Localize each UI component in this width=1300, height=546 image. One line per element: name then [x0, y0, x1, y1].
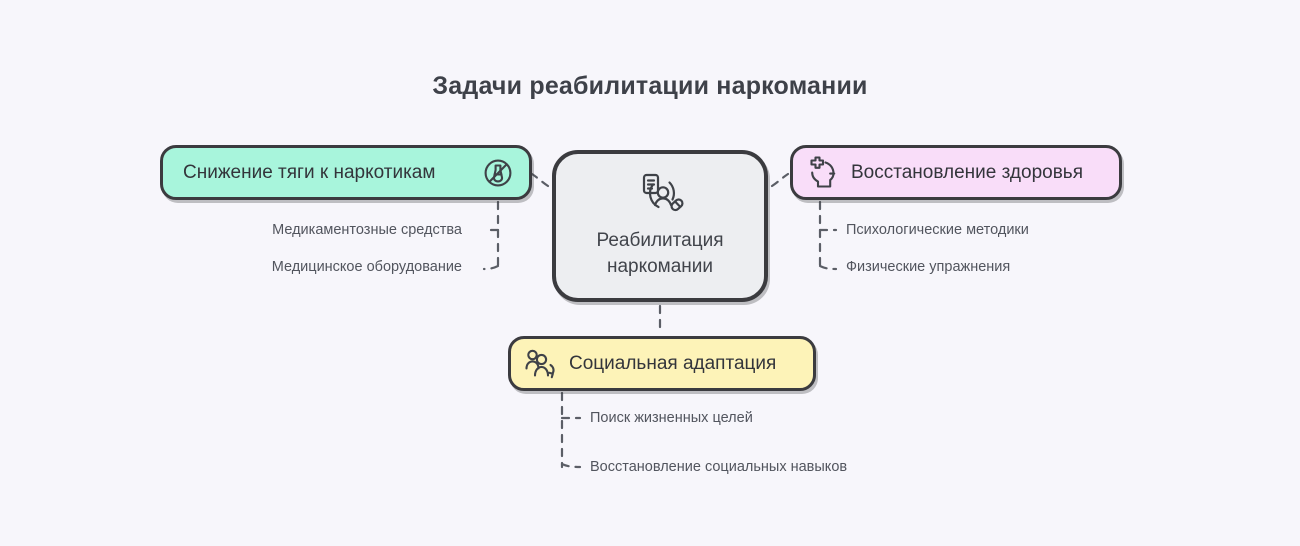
- patient-record-icon: [634, 172, 686, 218]
- node-social-adaptation[interactable]: Социальная адаптация: [508, 336, 816, 391]
- sublabel-health-recovery-2: Физические упражнения: [846, 259, 1010, 275]
- sublabel-social-adaptation-1: Поиск жизненных целей: [590, 410, 753, 426]
- sublabel-social-adaptation-2: Восстановление социальных навыков: [590, 459, 847, 475]
- node-health-recovery[interactable]: Восстановление здоровья: [790, 145, 1122, 200]
- sublabel-reduce-craving-2: Медицинское оборудование: [160, 259, 462, 275]
- node-reduce-craving[interactable]: Снижение тяги к наркотикам: [160, 145, 532, 200]
- sublabel-reduce-craving-1: Медикаментозные средства: [160, 222, 462, 238]
- node-central-rehabilitation[interactable]: Реабилитациянаркомании: [552, 150, 768, 302]
- no-drugs-icon: [481, 156, 515, 190]
- node-central-label: Реабилитациянаркомании: [596, 228, 723, 279]
- node-social-adaptation-label: Социальная адаптация: [569, 353, 776, 375]
- head-health-icon: [805, 156, 839, 190]
- mindmap-canvas: Задачи реабилитации наркомании: [0, 0, 1300, 546]
- sublabel-health-recovery-1: Психологические методики: [846, 222, 1029, 238]
- page-title: Задачи реабилитации наркомании: [0, 72, 1300, 101]
- node-health-recovery-label: Восстановление здоровья: [851, 162, 1083, 184]
- people-group-icon: [523, 347, 559, 381]
- node-reduce-craving-label: Снижение тяги к наркотикам: [183, 162, 435, 184]
